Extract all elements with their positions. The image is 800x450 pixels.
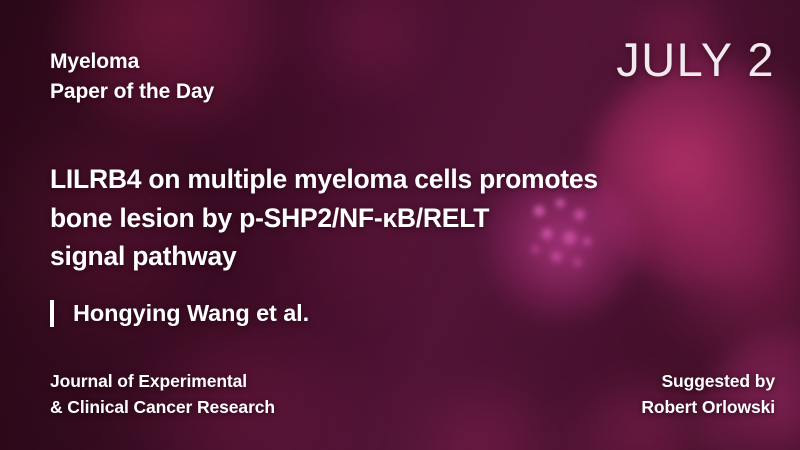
myeloma-paper-of-the-day-card: Myeloma Paper of the Day JULY 2 LILRB4 o… — [0, 0, 800, 450]
journal-line-2: & Clinical Cancer Research — [50, 395, 275, 421]
suggested-by-person: Robert Orlowski — [641, 395, 775, 421]
series-kicker: Myeloma Paper of the Day — [50, 47, 214, 107]
kicker-line-2: Paper of the Day — [50, 77, 214, 107]
card-content: Myeloma Paper of the Day JULY 2 LILRB4 o… — [0, 0, 800, 450]
vertical-bar-divider-icon — [50, 300, 54, 327]
journal-name: Journal of Experimental & Clinical Cance… — [50, 369, 275, 421]
paper-title: LILRB4 on multiple myeloma cells promote… — [50, 160, 740, 276]
journal-line-1: Journal of Experimental — [50, 369, 275, 395]
paper-title-line-1: LILRB4 on multiple myeloma cells promote… — [50, 160, 740, 199]
kicker-line-1: Myeloma — [50, 47, 214, 77]
paper-authors-row: Hongying Wang et al. — [50, 300, 309, 327]
paper-title-line-3: signal pathway — [50, 237, 740, 276]
suggested-by-label: Suggested by — [641, 369, 775, 395]
paper-authors: Hongying Wang et al. — [73, 302, 309, 326]
suggested-by-block: Suggested by Robert Orlowski — [641, 369, 775, 421]
date-label: JULY 2 — [616, 36, 775, 83]
paper-title-line-2: bone lesion by p-SHP2/NF-κB/RELT — [50, 199, 740, 238]
